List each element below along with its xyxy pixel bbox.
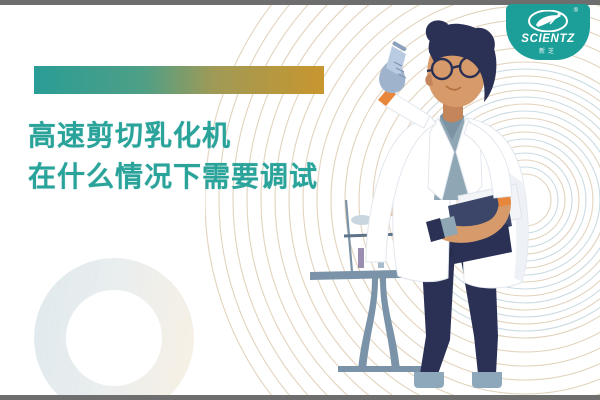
bottom-chrome-bar bbox=[0, 395, 600, 400]
right-shoe bbox=[472, 372, 502, 388]
logo-wordmark: SCIENTZ bbox=[506, 33, 590, 45]
logo-chinese-mark: 新芝 bbox=[506, 46, 590, 55]
dot-gradient-band bbox=[34, 66, 324, 94]
left-shoe bbox=[414, 372, 444, 388]
headline-line-1: 高速剪切乳化机 bbox=[28, 118, 318, 155]
scientist-illustration bbox=[300, 0, 600, 400]
headline-line-2: 在什么情况下需要调试 bbox=[28, 159, 318, 196]
poster-canvas: 高速剪切乳化机 在什么情况下需要调试 bbox=[0, 0, 600, 400]
swoosh-fish-emblem bbox=[528, 10, 568, 32]
scientz-logo[interactable]: ® SCIENTZ 新芝 bbox=[506, 4, 590, 60]
page-title: 高速剪切乳化机 在什么情况下需要调试 bbox=[28, 118, 318, 196]
background-donut-ring bbox=[34, 258, 194, 400]
registered-symbol: ® bbox=[574, 8, 578, 14]
